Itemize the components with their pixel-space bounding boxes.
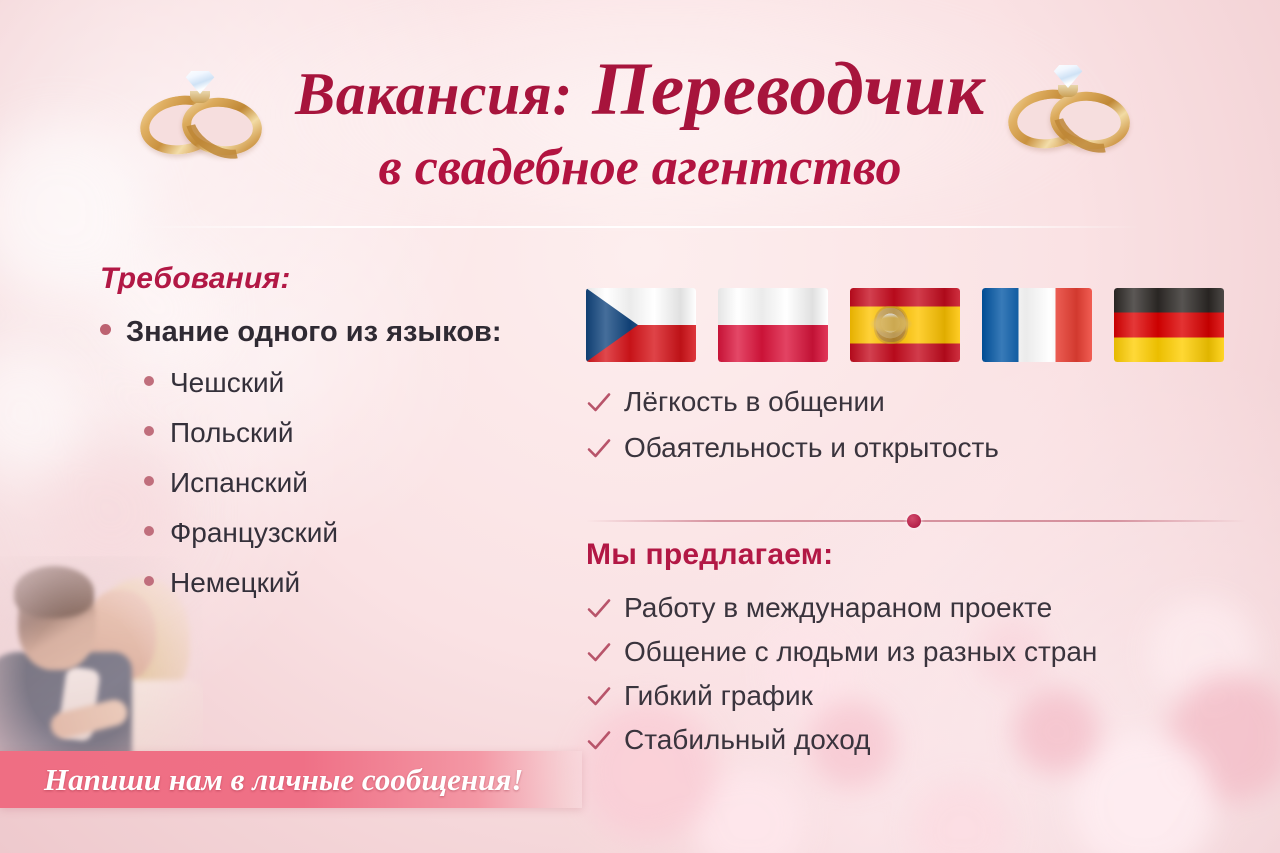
- requirements-column: Требования: Знание одного из языков: Чеш…: [100, 262, 570, 617]
- list-item: Лёгкость в общении: [586, 386, 1246, 418]
- headline-vacancy-label: Вакансия:: [295, 61, 573, 127]
- check-icon: [586, 728, 612, 754]
- quality-label: Обаятельность и открытость: [624, 432, 999, 464]
- offer-label: Стабильный доход: [624, 724, 871, 756]
- header-divider: [140, 226, 1140, 228]
- list-item: Немецкий: [144, 567, 570, 599]
- requirements-heading: Требования:: [100, 262, 570, 296]
- check-icon: [586, 436, 612, 462]
- list-item: Французский: [144, 517, 570, 549]
- offer-label: Гибкий график: [624, 680, 813, 712]
- language-label: Испанский: [170, 467, 308, 499]
- language-label: Чешский: [170, 367, 284, 399]
- cta-banner-label: Напиши нам в личные сообщения!: [44, 762, 523, 798]
- divider-dot-icon: [907, 514, 921, 528]
- cta-banner[interactable]: Напиши нам в личные сообщения!: [0, 751, 582, 808]
- language-label: Французский: [170, 517, 338, 549]
- check-icon: [586, 390, 612, 416]
- check-icon: [586, 684, 612, 710]
- list-item: Чешский: [144, 367, 570, 399]
- list-item: Испанский: [144, 467, 570, 499]
- qualities-column: Лёгкость в общении Обаятельность и откры…: [586, 386, 1246, 478]
- check-icon: [586, 640, 612, 666]
- list-item: Обаятельность и открытость: [586, 432, 1246, 464]
- poland-flag-icon: [718, 288, 828, 362]
- bullet-dot-icon: [144, 576, 154, 586]
- qualities-list: Лёгкость в общении Обаятельность и откры…: [586, 386, 1246, 464]
- offer-column: Мы предлагаем: Работу в междунараном про…: [586, 538, 1266, 768]
- offer-heading: Мы предлагаем:: [586, 538, 1266, 572]
- offer-list: Работу в междунараном проекте Общение с …: [586, 592, 1266, 756]
- germany-flag-icon: [1114, 288, 1224, 362]
- quality-label: Лёгкость в общении: [624, 386, 885, 418]
- bullet-dot-icon: [144, 426, 154, 436]
- requirements-main-item-label: Знание одного из языков:: [126, 316, 502, 349]
- spain-flag-icon: [850, 288, 960, 362]
- headline-line-2: в свадебное агентство: [0, 138, 1280, 198]
- bullet-dot-icon: [100, 324, 111, 335]
- section-divider: [586, 514, 1246, 528]
- poster-headline: Вакансия: Переводчик в свадебное агентст…: [0, 48, 1280, 198]
- france-flag-icon: [982, 288, 1092, 362]
- bullet-dot-icon: [144, 526, 154, 536]
- offer-label: Общение с людьми из разных стран: [624, 636, 1097, 668]
- list-item: Общение с людьми из разных стран: [586, 636, 1266, 668]
- headline-job-title: Переводчик: [592, 48, 985, 131]
- offer-label: Работу в междунараном проекте: [624, 592, 1052, 624]
- list-item: Работу в междунараном проекте: [586, 592, 1266, 624]
- language-label: Польский: [170, 417, 294, 449]
- list-item: Гибкий график: [586, 680, 1266, 712]
- list-item: Польский: [144, 417, 570, 449]
- language-list: Чешский Польский Испанский Французский Н…: [100, 367, 570, 599]
- bullet-dot-icon: [144, 476, 154, 486]
- list-item: Стабильный доход: [586, 724, 1266, 756]
- flags-row: [586, 288, 1236, 370]
- job-ad-poster: Вакансия: Переводчик в свадебное агентст…: [0, 0, 1280, 853]
- requirements-main-item: Знание одного из языков:: [100, 316, 570, 349]
- headline-line-1: Вакансия: Переводчик: [0, 48, 1280, 136]
- language-label: Немецкий: [170, 567, 300, 599]
- czech-flag-icon: [586, 288, 696, 362]
- check-icon: [586, 596, 612, 622]
- bullet-dot-icon: [144, 376, 154, 386]
